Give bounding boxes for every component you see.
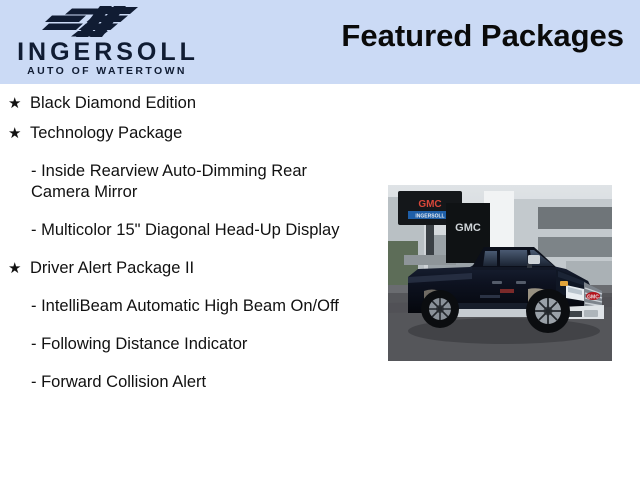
svg-text:GMC: GMC — [587, 295, 599, 301]
svg-text:INGERSOLL: INGERSOLL — [415, 214, 444, 220]
slide-page: INGERSOLL AUTO OF WATERTOWN Featured Pac… — [0, 0, 640, 480]
list-item: - IntelliBeam Automatic High Beam On/Off — [0, 296, 380, 317]
list-item-label: - IntelliBeam Automatic High Beam On/Off — [31, 296, 368, 317]
list-item: ★ Technology Package — [0, 123, 380, 144]
star-icon: ★ — [8, 258, 21, 279]
list-item: ★ Driver Alert Package II — [0, 258, 380, 279]
ingersoll-wing-emblem — [42, 4, 170, 38]
svg-text:GMC: GMC — [455, 222, 481, 234]
featured-packages-list: ★ Black Diamond Edition ★ Technology Pac… — [0, 84, 380, 410]
list-item: - Multicolor 15" Diagonal Head-Up Displa… — [0, 220, 380, 241]
svg-text:GMC: GMC — [418, 199, 441, 210]
dealer-tagline: AUTO OF WATERTOWN — [6, 65, 206, 78]
list-item-label: Driver Alert Package II — [30, 258, 380, 279]
page-title: Featured Packages — [341, 18, 624, 54]
star-icon: ★ — [8, 123, 21, 144]
star-icon: ★ — [8, 93, 21, 114]
list-item: - Following Distance Indicator — [0, 334, 380, 355]
list-item: - Inside Rearview Auto-Dimming Rear Came… — [0, 161, 380, 203]
list-item: ★ Black Diamond Edition — [0, 93, 380, 114]
list-item-label: - Forward Collision Alert — [31, 372, 368, 393]
list-item-label: - Following Distance Indicator — [31, 334, 368, 355]
dealer-name: INGERSOLL — [6, 39, 206, 65]
list-item-label: Technology Package — [30, 123, 380, 144]
list-item-label: - Inside Rearview Auto-Dimming Rear Came… — [31, 161, 368, 203]
page-header: INGERSOLL AUTO OF WATERTOWN Featured Pac… — [0, 0, 640, 84]
list-item: - Forward Collision Alert — [0, 372, 380, 393]
list-item-label: Black Diamond Edition — [30, 93, 380, 114]
dealer-logo: INGERSOLL AUTO OF WATERTOWN — [6, 4, 206, 80]
list-item-label: - Multicolor 15" Diagonal Head-Up Displa… — [31, 220, 368, 241]
vehicle-photo: GMC INGERSOLL GMC — [388, 185, 612, 361]
